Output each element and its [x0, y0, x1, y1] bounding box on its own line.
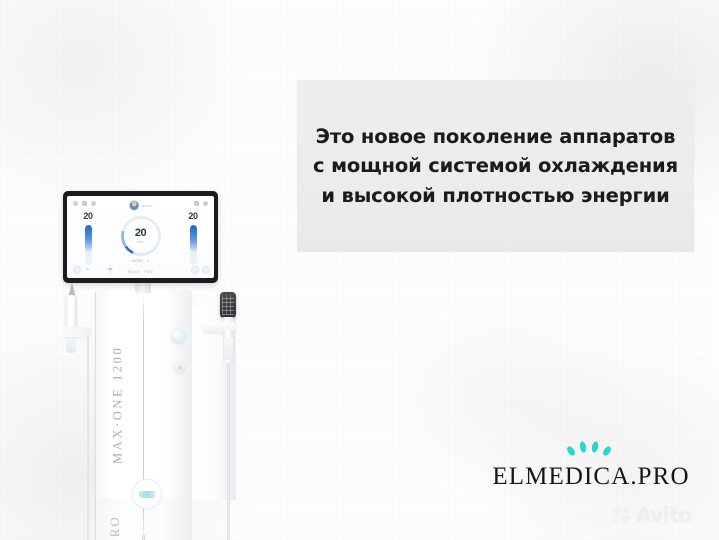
screen-slider[interactable]	[103, 265, 117, 275]
device-monitor[interactable]: Doctor 20 Hz 20 Hz	[63, 191, 218, 283]
screen-topbar-left-icons	[73, 201, 96, 206]
headline-panel: Это новое поколение аппаратов с мощной с…	[297, 80, 694, 252]
screen-dial-unit: J/cm²	[137, 240, 144, 244]
screen-gauge-right-fill	[190, 225, 197, 251]
brand-logo: ELMEDICA.PRO	[484, 436, 698, 498]
device-pole	[142, 535, 145, 540]
settings-icon[interactable]	[82, 201, 87, 206]
device-port-primary[interactable]	[171, 328, 187, 344]
handpiece-right-head	[220, 292, 236, 318]
avito-wordmark: Avito	[636, 505, 691, 525]
screen-button-start[interactable]	[202, 266, 210, 274]
device-port-secondary[interactable]	[174, 362, 186, 374]
screen-gauge-right-value: 20	[175, 212, 211, 221]
screen-dial-core: 20 J/cm²	[128, 223, 154, 249]
handpiece-right-glass	[224, 338, 233, 360]
screen-user-avatar[interactable]: Doctor	[128, 200, 153, 211]
brand-wordmark: ELMEDICA.PRO	[484, 464, 698, 489]
handpiece-left-cable	[87, 335, 89, 540]
screen-gauge-right-bar[interactable]	[190, 225, 197, 265]
screen-status-label: READY · FIRE	[128, 270, 154, 274]
device-screen[interactable]: Doctor 20 Hz 20 Hz	[67, 196, 214, 278]
power-icon[interactable]	[203, 201, 208, 206]
menu-icon[interactable]	[73, 201, 78, 206]
device-emblem	[133, 480, 161, 508]
screen-user-name: Doctor	[142, 204, 153, 208]
screen-dial-value: 20	[135, 228, 146, 239]
handpiece-right-grid-icon	[222, 295, 234, 315]
medical-device-illustration: MAX·ONE 1200 RO	[40, 180, 270, 540]
device-emblem-inner	[139, 491, 155, 498]
slide-canvas: MAX·ONE 1200 RO	[0, 0, 719, 540]
screen-topbar-right-icons	[194, 201, 208, 206]
battery-icon[interactable]	[194, 201, 199, 206]
handpiece-right-cable	[227, 362, 230, 540]
screen-main-dial[interactable]: 20 J/cm²	[121, 216, 161, 256]
screen-slider-knob[interactable]	[108, 268, 113, 270]
headline-text: Это новое поколение аппаратов с мощной с…	[297, 122, 694, 211]
screen-gauge-left-bar[interactable]	[85, 225, 92, 265]
screen-gauge-left-fill	[85, 225, 92, 251]
screen-slider-track	[110, 265, 111, 275]
screen-gauge-right[interactable]: 20 Hz	[175, 212, 211, 271]
device-model-label: MAX·ONE 1200	[106, 320, 130, 490]
avatar	[128, 200, 139, 211]
profile-icon[interactable]	[91, 201, 96, 206]
avito-watermark: Avito	[611, 505, 691, 525]
screen-mode-label: MODE · 1	[132, 259, 149, 263]
avito-logo-icon	[611, 505, 633, 525]
screen-button-right[interactable]	[191, 266, 199, 274]
screen-button-left[interactable]	[73, 266, 81, 274]
screen-gauge-left-value: 20	[70, 212, 106, 221]
device-body-edge	[95, 292, 96, 540]
device-brand-label: RO	[108, 515, 123, 537]
screen-gauge-left[interactable]: 20 Hz	[70, 212, 106, 271]
petal-fan-icon	[558, 436, 624, 462]
